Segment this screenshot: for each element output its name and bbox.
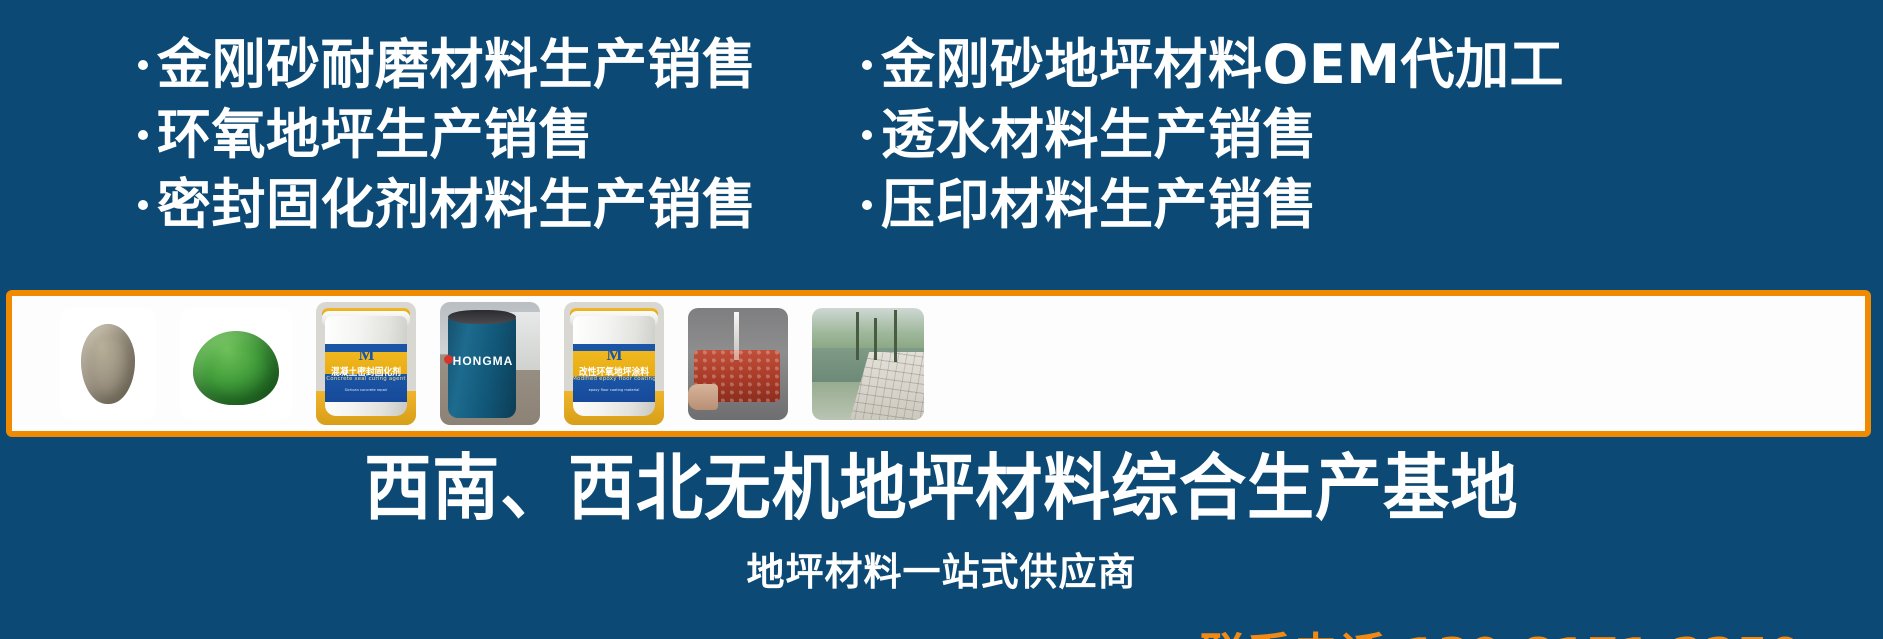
pail-label-fineprint: epoxy floor coating material <box>564 388 664 393</box>
product-thumb-concrete-sealer-pail: M 混凝土密封固化剂 Concrete seal curing agent Si… <box>316 302 416 425</box>
feature-item: 透水材料生产销售 <box>862 104 1564 166</box>
tree-shape <box>874 318 877 360</box>
brand-m-logo-icon: M <box>606 346 621 363</box>
bullet-dot-icon <box>138 200 148 210</box>
contact-phone-number[interactable]: 联系电话:139-8171-2250 <box>1200 632 1802 639</box>
product-thumb-emery-powder <box>60 308 156 420</box>
drum-brand-label: HONGMA <box>451 354 515 368</box>
feature-label: 环氧地坪生产销售 <box>157 108 593 162</box>
product-showcase-panel: M 混凝土密封固化剂 Concrete seal curing agent Si… <box>6 290 1871 437</box>
feature-list: 金刚砂耐磨材料生产销售 环氧地坪生产销售 密封固化剂材料生产销售 金刚砂地坪材料… <box>0 34 1883 284</box>
feature-item: 环氧地坪生产销售 <box>138 104 757 166</box>
feature-item: 金刚砂地坪材料OEM代加工 <box>862 34 1564 96</box>
feature-label: 透水材料生产销售 <box>881 108 1317 162</box>
product-thumb-green-powder <box>180 308 292 420</box>
bullet-dot-icon <box>862 60 872 70</box>
feature-label: 金刚砂耐磨材料生产销售 <box>157 38 757 92</box>
product-thumb-hongma-drum: HONGMA <box>440 302 540 425</box>
feature-item: 金刚砂耐磨材料生产销售 <box>138 34 757 96</box>
product-thumb-permeable-concrete <box>688 308 788 420</box>
pail-label-en: Concrete seal curing agent <box>316 376 416 382</box>
feature-item: 密封固化剂材料生产销售 <box>138 174 757 236</box>
product-thumb-epoxy-coating-pail: M 改性环氧地坪涂料 Modified epoxy floor coating … <box>564 302 664 425</box>
product-thumbnail-strip: M 混凝土密封固化剂 Concrete seal curing agent Si… <box>60 302 924 425</box>
hand-shape <box>688 384 718 410</box>
feature-label: 密封固化剂材料生产销售 <box>157 178 757 232</box>
bullet-dot-icon <box>862 130 872 140</box>
bullet-dot-icon <box>138 130 148 140</box>
brand-m-logo-icon: M <box>358 346 373 363</box>
banner-subtitle: 地坪材料一站式供应商 <box>0 553 1883 591</box>
bullet-dot-icon <box>138 60 148 70</box>
bullet-dot-icon <box>862 200 872 210</box>
pail-label-fineprint: Sichuan concrete repair <box>316 388 416 393</box>
drum-lid <box>448 310 516 324</box>
feature-column-right: 金刚砂地坪材料OEM代加工 透水材料生产销售 压印材料生产销售 <box>862 34 1564 244</box>
feature-label: 金刚砂地坪材料OEM代加工 <box>881 38 1564 92</box>
tree-shape <box>894 310 897 362</box>
feature-column-left: 金刚砂耐磨材料生产销售 环氧地坪生产销售 密封固化剂材料生产销售 <box>138 34 757 244</box>
product-thumb-paver-walkway <box>812 308 924 420</box>
water-pour-stream <box>734 312 739 360</box>
banner-headline: 西南、西北无机地坪材料综合生产基地 <box>66 452 1817 524</box>
advertising-banner: 金刚砂耐磨材料生产销售 环氧地坪生产销售 密封固化剂材料生产销售 金刚砂地坪材料… <box>0 0 1883 639</box>
pail-label-en: Modified epoxy floor coating <box>564 376 664 382</box>
feature-label: 压印材料生产销售 <box>881 178 1317 232</box>
powder-heap-shape <box>193 331 279 405</box>
feature-item: 压印材料生产销售 <box>862 174 1564 236</box>
tree-shape <box>856 312 859 360</box>
